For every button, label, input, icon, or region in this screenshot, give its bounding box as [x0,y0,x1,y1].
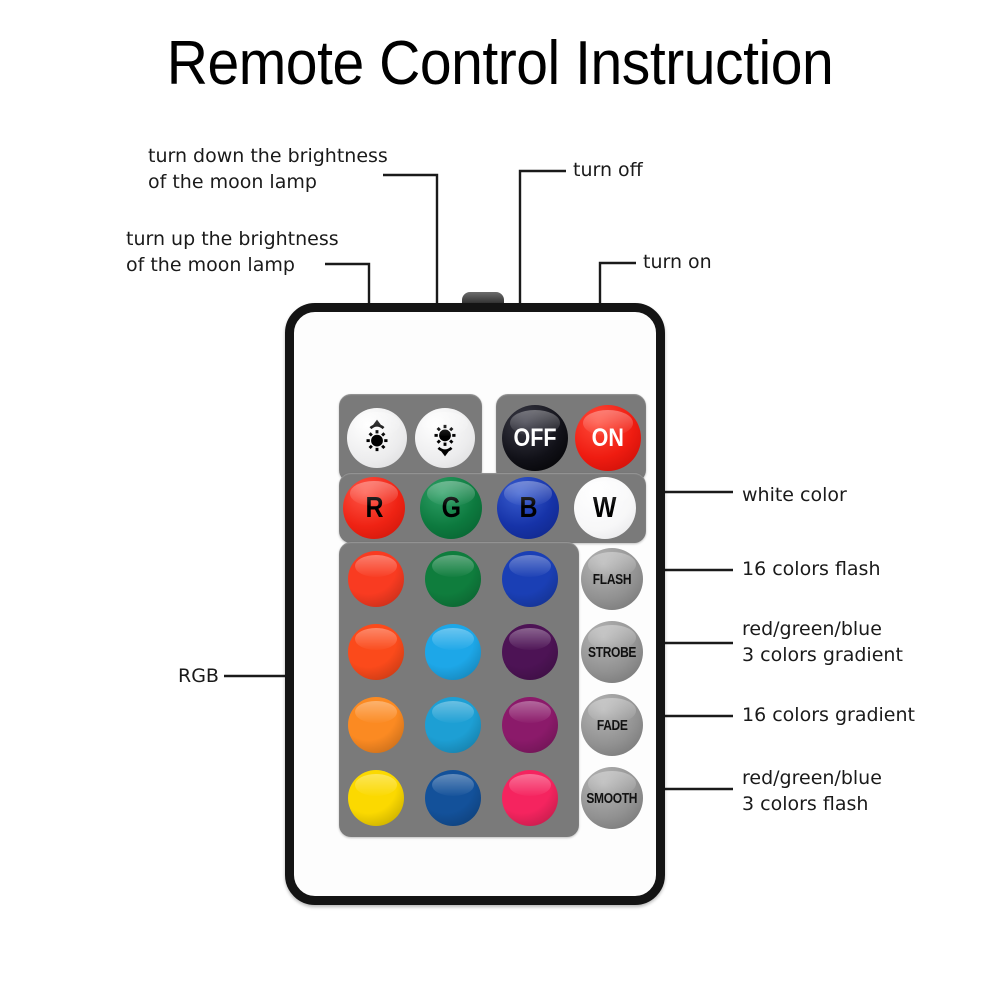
color-swatch-r4-c1-red[interactable] [348,770,404,826]
mode-button-flash[interactable]: FLASH [581,548,643,610]
sun-down-icon [424,417,466,459]
mode-button-smooth[interactable]: SMOOTH [581,767,643,829]
page-title: Remote Control Instruction [40,28,960,99]
callout-smooth-description: red/green/blue 3 colors flash [742,765,882,817]
color-swatch-r4-c2-green[interactable] [425,770,481,826]
remote-control-body: OFF ON R G B W FLASH STROBE FADE [285,303,665,905]
color-button-green[interactable]: G [420,477,482,539]
color-swatch-r2-c1-red[interactable] [348,624,404,680]
power-on-label: ON [592,424,624,453]
color-button-blue-label: B [519,492,537,525]
color-swatch-r3-c3-blue[interactable] [502,697,558,753]
color-swatch-r1-c3-blue[interactable] [502,551,558,607]
mode-button-fade[interactable]: FADE [581,694,643,756]
power-off-label: OFF [514,424,557,453]
mode-button-flash-label: FLASH [593,571,631,588]
color-swatch-r2-c3-blue[interactable] [502,624,558,680]
mode-button-strobe-label: STROBE [588,644,636,661]
power-off-button[interactable]: OFF [502,405,568,471]
callout-turn-up-brightness: turn up the brightness of the moon lamp [126,226,376,278]
callout-turn-on: turn on [643,249,712,275]
color-swatch-r4-c3-blue[interactable] [502,770,558,826]
color-button-red-label: R [365,492,383,525]
color-swatch-r3-c1-red[interactable] [348,697,404,753]
color-swatch-r2-c2-green[interactable] [425,624,481,680]
brightness-up-button[interactable] [347,408,407,468]
color-button-green-label: G [441,492,460,525]
callout-rgb: RGB [178,663,219,689]
sun-up-icon [356,417,398,459]
power-on-button[interactable]: ON [575,405,641,471]
callout-16-colors-flash: 16 colors flash [742,556,881,582]
color-button-white[interactable]: W [574,477,636,539]
callout-white-color: white color [742,482,847,508]
brightness-down-button[interactable] [415,408,475,468]
mode-button-fade-label: FADE [597,717,628,734]
callout-strobe-description: red/green/blue 3 colors gradient [742,616,903,668]
mode-button-smooth-label: SMOOTH [587,790,638,807]
callout-turn-off: turn off [573,157,643,183]
instruction-diagram: Remote Control Instruction turn down the… [0,0,1000,1000]
callout-16-colors-gradient: 16 colors gradient [742,702,915,728]
color-swatch-r1-c2-green[interactable] [425,551,481,607]
callout-turn-down-brightness: turn down the brightness of the moon lam… [148,143,418,195]
mode-button-strobe[interactable]: STROBE [581,621,643,683]
color-button-blue[interactable]: B [497,477,559,539]
color-swatch-r3-c2-green[interactable] [425,697,481,753]
color-button-red[interactable]: R [343,477,405,539]
color-swatch-r1-c1-red[interactable] [348,551,404,607]
color-button-white-label: W [593,492,617,525]
